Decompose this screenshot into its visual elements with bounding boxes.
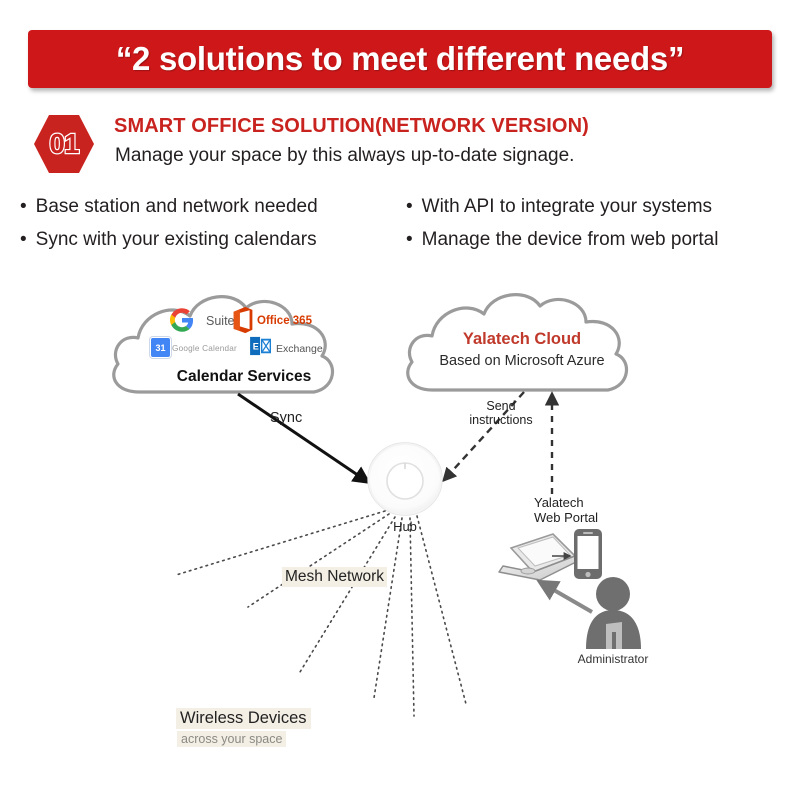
bullet-item: Manage the device from web portal [406, 229, 718, 251]
send-instructions-line1: Send [486, 399, 515, 413]
google-g-icon [170, 308, 194, 332]
mesh-network-label: Mesh Network [282, 567, 387, 587]
slide-page: “2 solutions to meet different needs” 01… [0, 0, 800, 800]
yalatech-cloud-title: Yalatech Cloud [432, 330, 612, 349]
exchange-label: Exchange [276, 343, 323, 355]
section-subtitle: Manage your space by this always up-to-d… [115, 145, 574, 167]
web-portal-line2: Web Portal [534, 510, 598, 525]
network-diagram: Suite Office 365 31 Google Calendar E Ex… [0, 264, 800, 800]
yalatech-cloud-subtitle: Based on Microsoft Azure [418, 353, 626, 369]
headline-text: “2 solutions to meet different needs” [116, 40, 684, 78]
google-calendar-icon: 31 [150, 337, 171, 358]
hub-label: Hub [382, 519, 428, 534]
mesh-network-links [176, 511, 466, 716]
step-number-text: 01 [49, 130, 78, 158]
office-365-icon [230, 305, 256, 335]
administrator-label: Administrator [566, 652, 660, 666]
bullet-item: With API to integrate your systems [406, 196, 712, 218]
send-instructions-label: Send instructions [466, 399, 536, 427]
hub-device [368, 443, 442, 515]
wireless-devices-title: Wireless Devices [176, 708, 311, 729]
feature-bullet-list: Base station and network needed Sync wit… [14, 196, 786, 260]
sync-label: Sync [270, 410, 302, 426]
headline-banner: “2 solutions to meet different needs” [28, 30, 772, 88]
smartphone-icon [574, 529, 602, 579]
bullet-item: Base station and network needed [20, 196, 318, 218]
web-portal-line1: Yalatech [534, 495, 584, 510]
exchange-icon: E [250, 336, 272, 356]
admin-to-laptop-arrow [540, 582, 592, 612]
office-365-label: Office 365 [257, 315, 312, 327]
google-calendar-label: Google Calendar [172, 344, 237, 353]
laptop-icon [499, 534, 580, 580]
section-title: SMART OFFICE SOLUTION(NETWORK VERSION) [114, 115, 589, 138]
step-number-badge: 01 [34, 115, 94, 173]
sync-arrow [238, 394, 368, 482]
section-heading: 01 SMART OFFICE SOLUTION(NETWORK VERSION… [30, 112, 770, 176]
web-portal-label: Yalatech Web Portal [534, 495, 614, 525]
svg-text:E: E [253, 342, 259, 352]
calendar-services-title: Calendar Services [170, 368, 318, 386]
send-instructions-line2: instructions [469, 413, 532, 427]
administrator-icon [586, 577, 641, 650]
wireless-devices-subtitle: across your space [177, 731, 286, 747]
google-calendar-day-number: 31 [155, 343, 165, 353]
bullet-item: Sync with your existing calendars [20, 229, 317, 251]
